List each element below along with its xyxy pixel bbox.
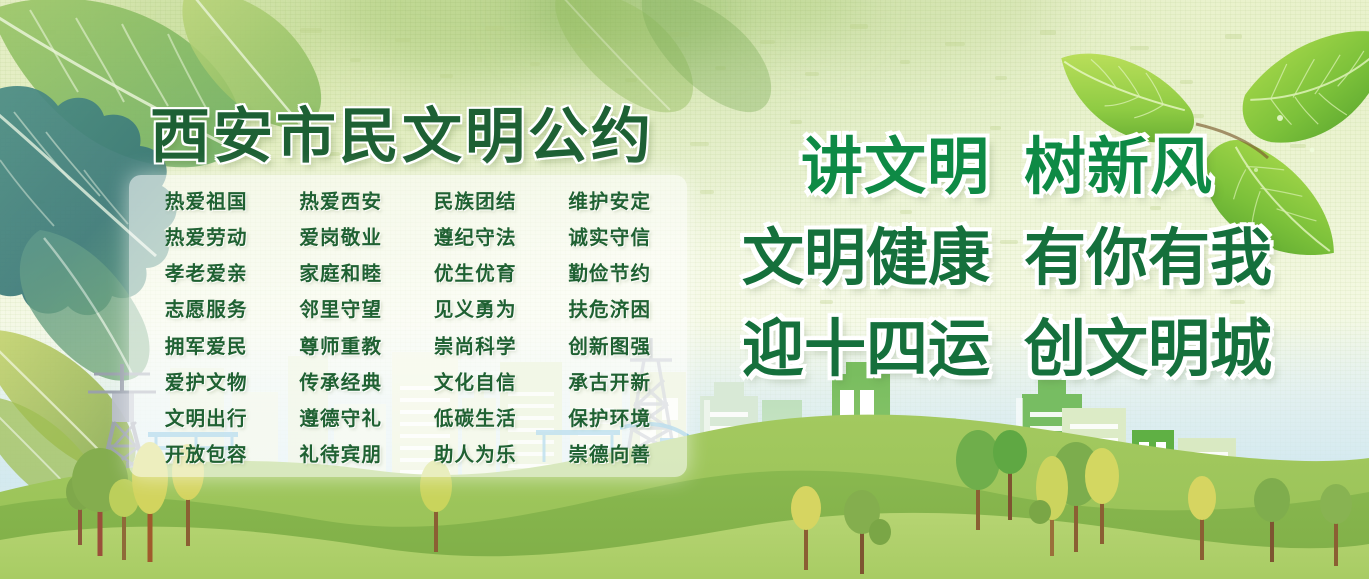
page-title: 西安市民文明公约 [150, 88, 654, 175]
slogan-1-right: 树新风 [1024, 130, 1213, 203]
watercolor-wash [90, 0, 350, 90]
pledge-item: 爱护文物 [165, 366, 248, 395]
pledge-item: 热爱祖国 [165, 185, 248, 214]
pledge-item: 崇德向善 [568, 438, 651, 467]
slogan-line-1: 讲文明树新风 [742, 136, 1272, 198]
pledge-item: 见义勇为 [434, 293, 517, 322]
pledge-item: 诚实守信 [568, 221, 651, 250]
pledge-item: 低碳生活 [434, 402, 517, 431]
watercolor-wash [330, 0, 630, 80]
slogan-2-right: 有你有我 [1024, 221, 1272, 294]
pledge-item: 热爱西安 [299, 185, 382, 214]
pledge-item: 承古开新 [568, 366, 651, 395]
slogan-line-2: 文明健康有你有我 [742, 227, 1272, 289]
pledge-item: 尊师重教 [299, 330, 382, 359]
pledge-item: 家庭和睦 [299, 257, 382, 286]
pledge-item: 志愿服务 [165, 293, 248, 322]
pledge-item: 优生优育 [434, 257, 517, 286]
pledge-grid-panel: 热爱祖国热爱西安民族团结维护安定热爱劳动爱岗敬业遵纪守法诚实守信孝老爱亲家庭和睦… [129, 175, 687, 477]
pledge-item: 助人为乐 [434, 438, 517, 467]
pledge-item: 遵德守礼 [299, 402, 382, 431]
pledge-item: 维护安定 [568, 185, 651, 214]
pledge-item: 保护环境 [568, 402, 651, 431]
pledge-item: 邻里守望 [299, 293, 382, 322]
pledge-item: 勤俭节约 [568, 257, 651, 286]
pledge-item: 文化自信 [434, 366, 517, 395]
pledge-item: 热爱劳动 [165, 221, 248, 250]
poster-canvas: 西安市民文明公约 热爱祖国热爱西安民族团结维护安定热爱劳动爱岗敬业遵纪守法诚实守… [0, 0, 1369, 579]
watercolor-wash [620, 0, 860, 50]
pledge-item: 开放包容 [165, 438, 248, 467]
slogan-block: 讲文明树新风 文明健康有你有我 迎十四运创文明城 [742, 136, 1272, 380]
watercolor-wash [760, 0, 1060, 60]
pledge-item: 崇尚科学 [434, 330, 517, 359]
slogan-1-left: 讲文明 [801, 130, 990, 203]
slogan-3-left: 迎十四运 [742, 312, 990, 385]
pledge-item: 拥军爱民 [165, 330, 248, 359]
pledge-item: 创新图强 [568, 330, 651, 359]
pledge-item: 遵纪守法 [434, 221, 517, 250]
pledge-item: 孝老爱亲 [165, 257, 248, 286]
pledge-item: 传承经典 [299, 366, 382, 395]
pledge-item: 扶危济困 [568, 293, 651, 322]
watercolor-wash [520, 0, 740, 65]
pledge-item: 民族团结 [434, 185, 517, 214]
pledge-item: 文明出行 [165, 402, 248, 431]
slogan-3-right: 创文明城 [1024, 312, 1272, 385]
pledge-item: 礼待宾朋 [299, 438, 382, 467]
pledge-item: 爱岗敬业 [299, 221, 382, 250]
slogan-line-3: 迎十四运创文明城 [742, 318, 1272, 380]
slogan-2-left: 文明健康 [742, 221, 990, 294]
